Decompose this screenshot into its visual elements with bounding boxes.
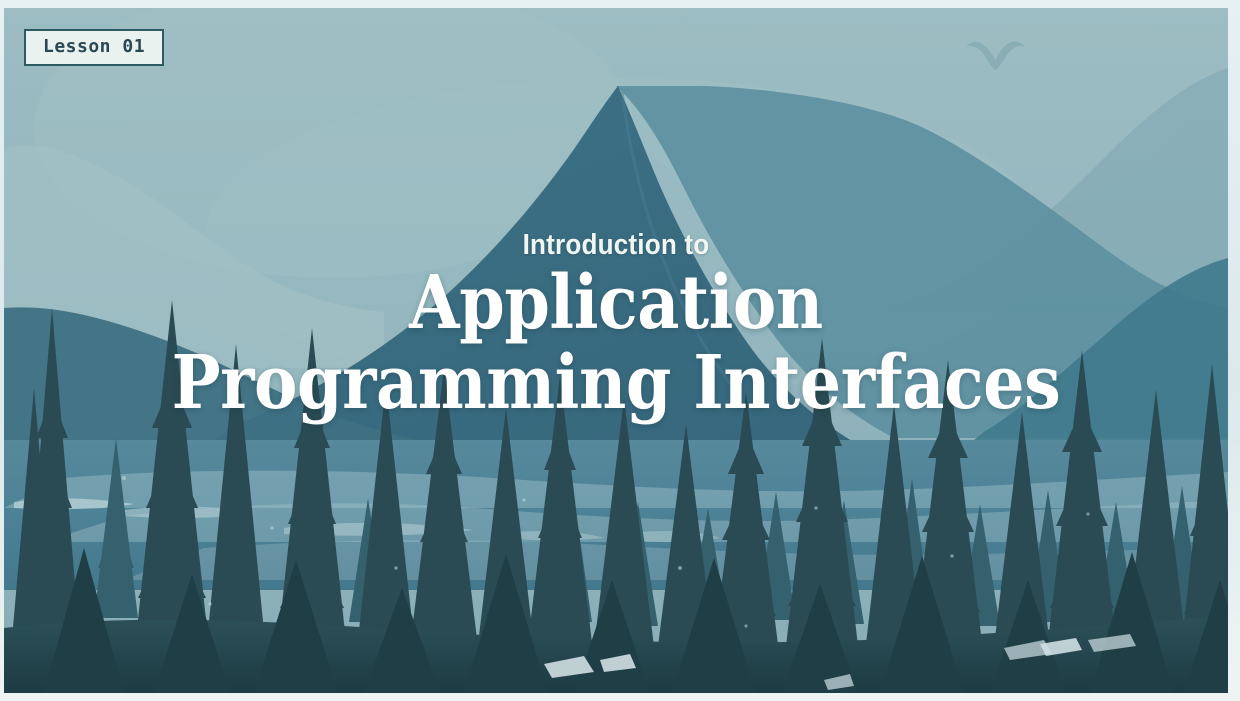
slide-background-illustration [4,8,1228,693]
page-canvas: Lesson 01 Introduction to Application Pr… [0,0,1240,701]
presentation-slide: Lesson 01 Introduction to Application Pr… [4,8,1228,693]
lesson-badge[interactable]: Lesson 01 [24,29,164,66]
